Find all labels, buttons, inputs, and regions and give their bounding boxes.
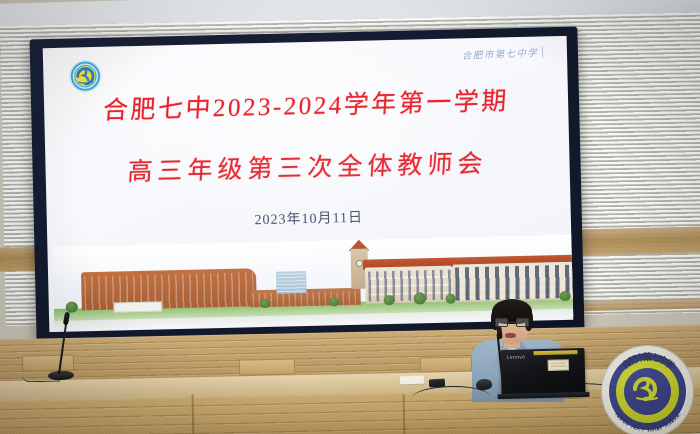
slide-title-block: 合肥七中2023-2024学年第一学期 高三年级第三次全体教师会	[44, 80, 570, 190]
campus-background-tower	[276, 271, 307, 294]
seal-emblem-icon	[628, 374, 668, 404]
glasses-lens-right	[516, 318, 529, 327]
campus-tree	[414, 292, 426, 304]
laptop-asset-sticker	[548, 359, 569, 371]
campus-tree	[66, 301, 78, 312]
laptop-brand-label: Lenovo	[507, 354, 526, 360]
campus-tree	[330, 297, 339, 306]
chair	[420, 356, 472, 372]
laptop: Lenovo	[500, 348, 585, 396]
slide-corner-watermark: 合肥市第七中学	[461, 45, 543, 62]
slide-subtitle: 高三年级第三次全体教师会	[126, 144, 488, 189]
campus-main-building	[365, 266, 456, 304]
slide-school-logo-icon	[68, 59, 103, 94]
photo-canvas: 合肥市第七中学 合肥七中2023-2024学年第一学期 高三年级第三次全体教师会…	[0, 0, 700, 434]
presenter-mouth	[505, 333, 516, 338]
chair	[239, 358, 295, 375]
slide-title: 合肥七中2023-2024学年第一学期	[102, 81, 510, 127]
screen-surface: 合肥市第七中学 合肥七中2023-2024学年第一学期 高三年级第三次全体教师会…	[43, 36, 574, 332]
campus-auditorium-entrance	[114, 301, 162, 312]
campus-tree	[446, 294, 456, 304]
campus-auditorium-building	[81, 268, 257, 310]
campus-tree	[260, 299, 270, 308]
paper-sheet-on-desk	[400, 376, 424, 385]
school-seal-watermark: 合肥市第七中学 HEFEINO.7HIGHSCHOOL	[601, 345, 694, 434]
glasses-bridge	[508, 322, 516, 323]
campus-tree	[384, 295, 395, 305]
chair	[22, 354, 74, 371]
slide-date: 2023年10月11日	[47, 202, 571, 234]
